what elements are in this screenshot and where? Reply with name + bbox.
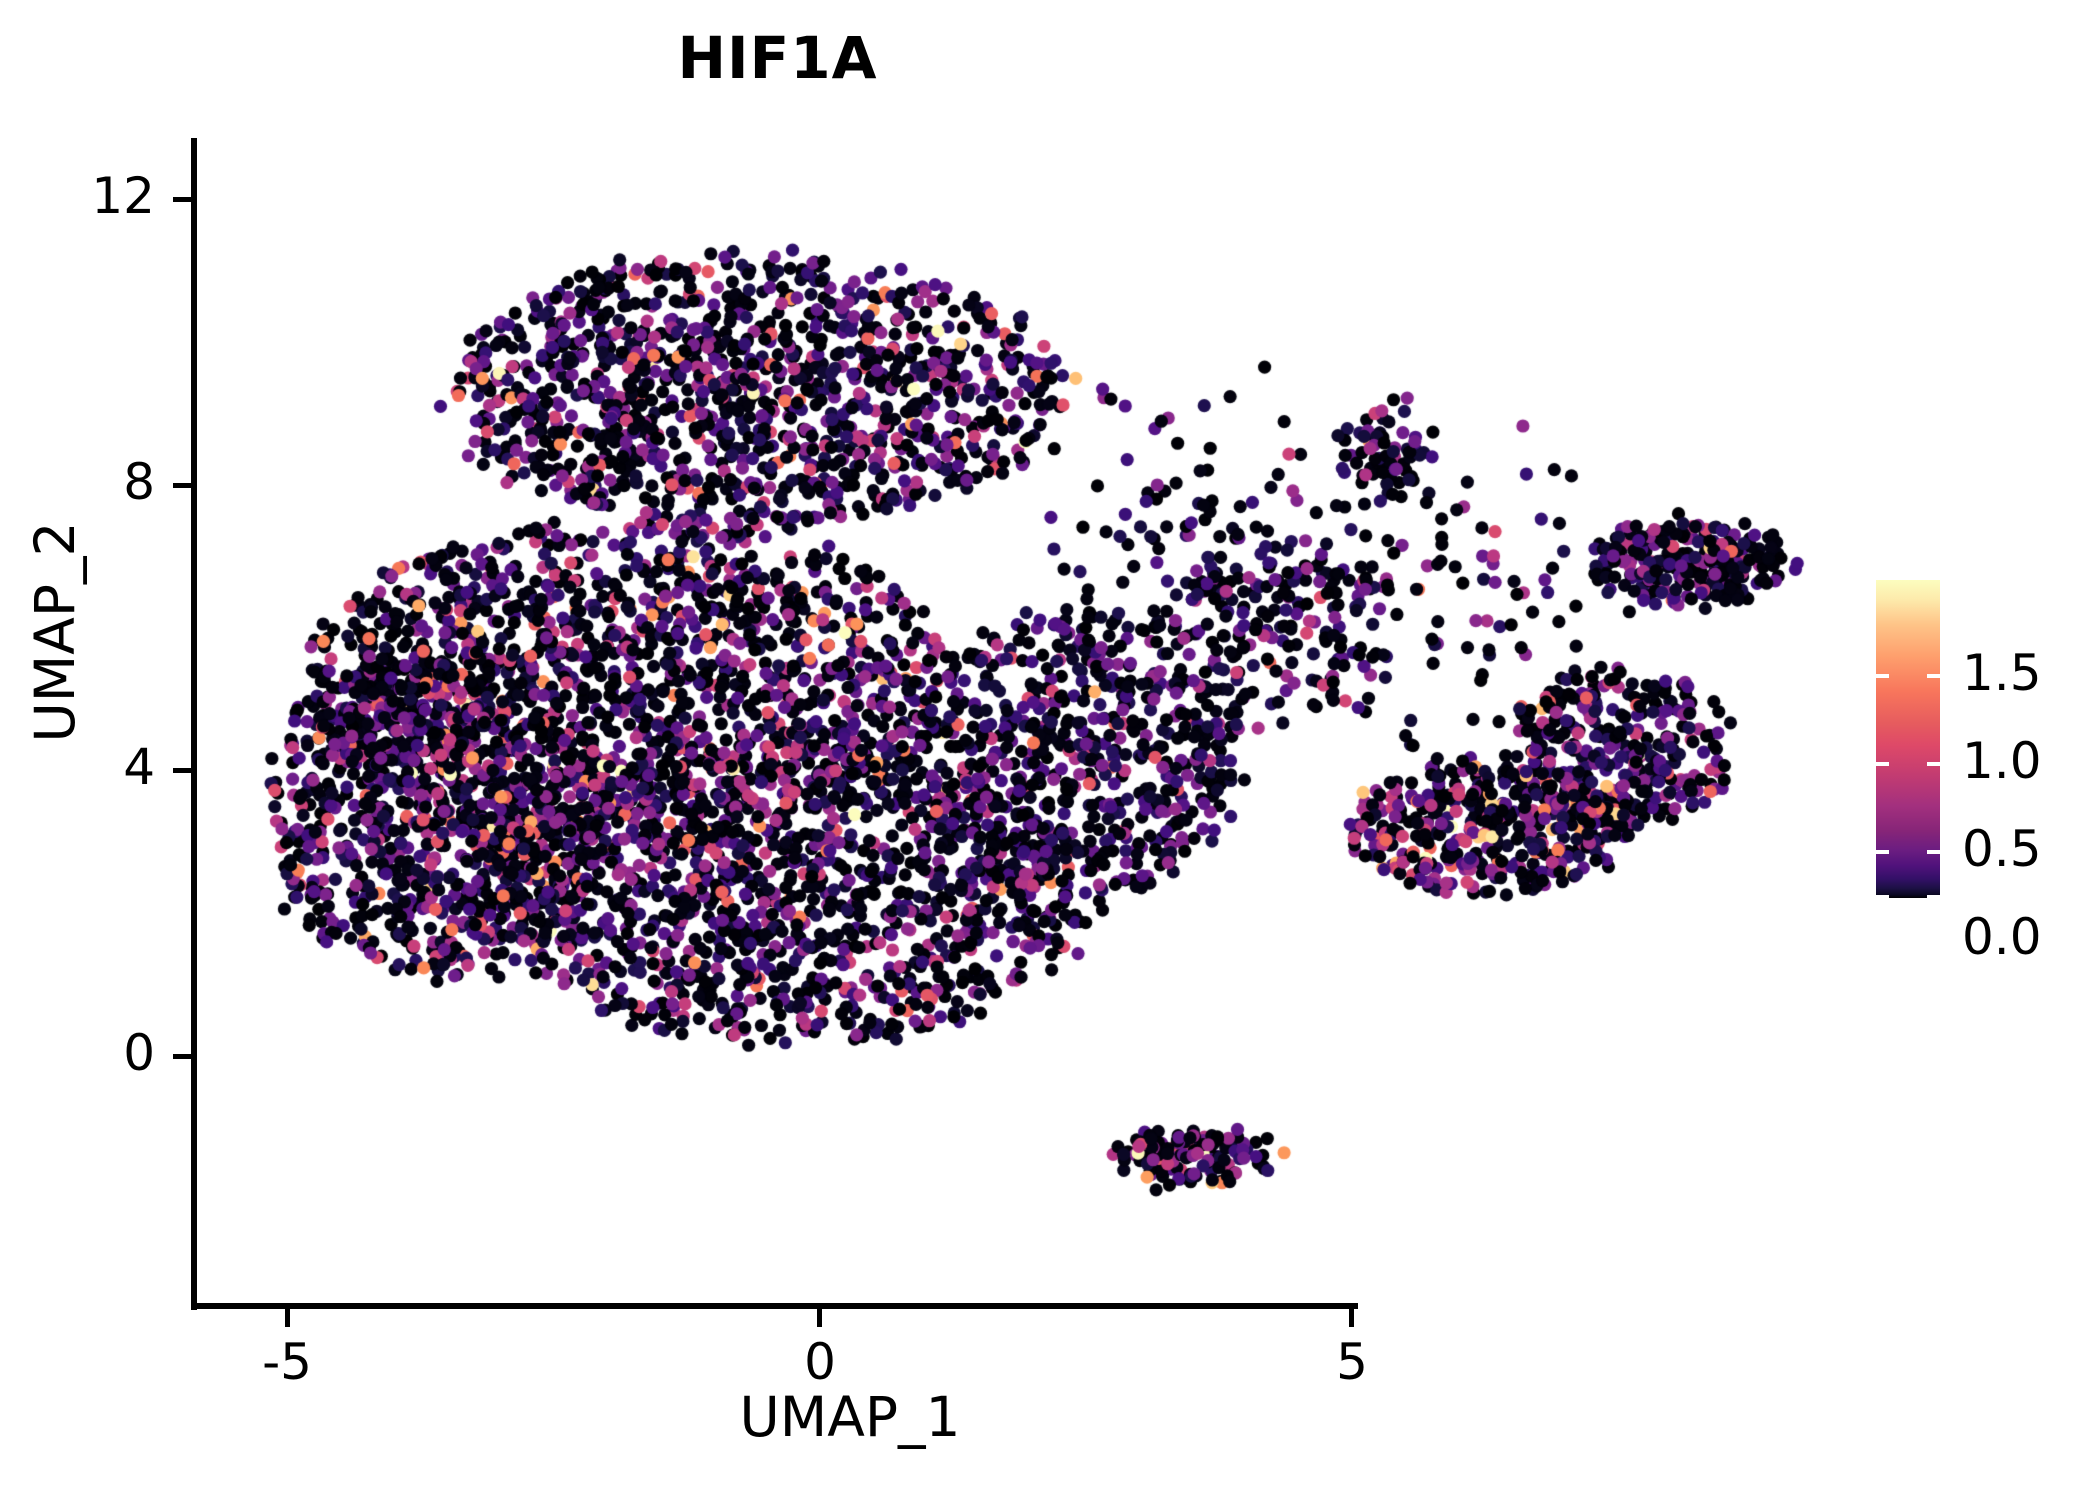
x-tick-label-0: 0 <box>740 1333 900 1391</box>
y-tick-label-0: 0 <box>35 1024 155 1082</box>
colorbar-tick-1.0-left <box>1876 762 1889 766</box>
x-tick-mark-5 <box>1349 1309 1354 1327</box>
y-tick-mark-8 <box>173 483 191 488</box>
y-tick-mark-12 <box>173 197 191 202</box>
y-tick-mark-4 <box>173 768 191 773</box>
colorbar-label-0.0: 0.0 <box>1962 908 2100 966</box>
colorbar: 1.5 1.0 0.5 0.0 <box>1876 580 1940 898</box>
x-tick-mark-0 <box>817 1309 822 1327</box>
y-tick-label-12: 12 <box>35 167 155 225</box>
x-tick-label-minus5: -5 <box>207 1333 367 1391</box>
colorbar-label-1.5: 1.5 <box>1962 644 2100 702</box>
x-tick-label-5: 5 <box>1272 1333 1432 1391</box>
colorbar-tick-0.5-left <box>1876 850 1889 854</box>
x-axis-title: UMAP_1 <box>500 1385 1200 1449</box>
y-axis-title: UMAP_2 <box>23 332 87 932</box>
y-tick-mark-0 <box>173 1054 191 1059</box>
colorbar-tick-1.5-right <box>1927 674 1940 678</box>
colorbar-label-0.5: 0.5 <box>1962 820 2100 878</box>
scatter-plot-canvas <box>196 140 1851 1308</box>
y-axis-spine <box>191 138 197 1310</box>
plot-axes <box>196 140 1851 1308</box>
colorbar-tick-1.5-left <box>1876 674 1889 678</box>
colorbar-tick-0.0-right <box>1927 895 1940 899</box>
figure-root: HIF1A 12 8 4 0 -5 0 5 UMAP_2 UMAP_1 1.5 … <box>0 0 2100 1500</box>
x-tick-mark-minus5 <box>285 1309 290 1327</box>
x-axis-spine <box>191 1303 1358 1309</box>
colorbar-label-1.0: 1.0 <box>1962 732 2100 790</box>
colorbar-tick-1.0-right <box>1927 762 1940 766</box>
page-title: HIF1A <box>0 24 1555 92</box>
colorbar-tick-0.5-right <box>1927 850 1940 854</box>
colorbar-tick-0.0-left <box>1876 895 1889 899</box>
